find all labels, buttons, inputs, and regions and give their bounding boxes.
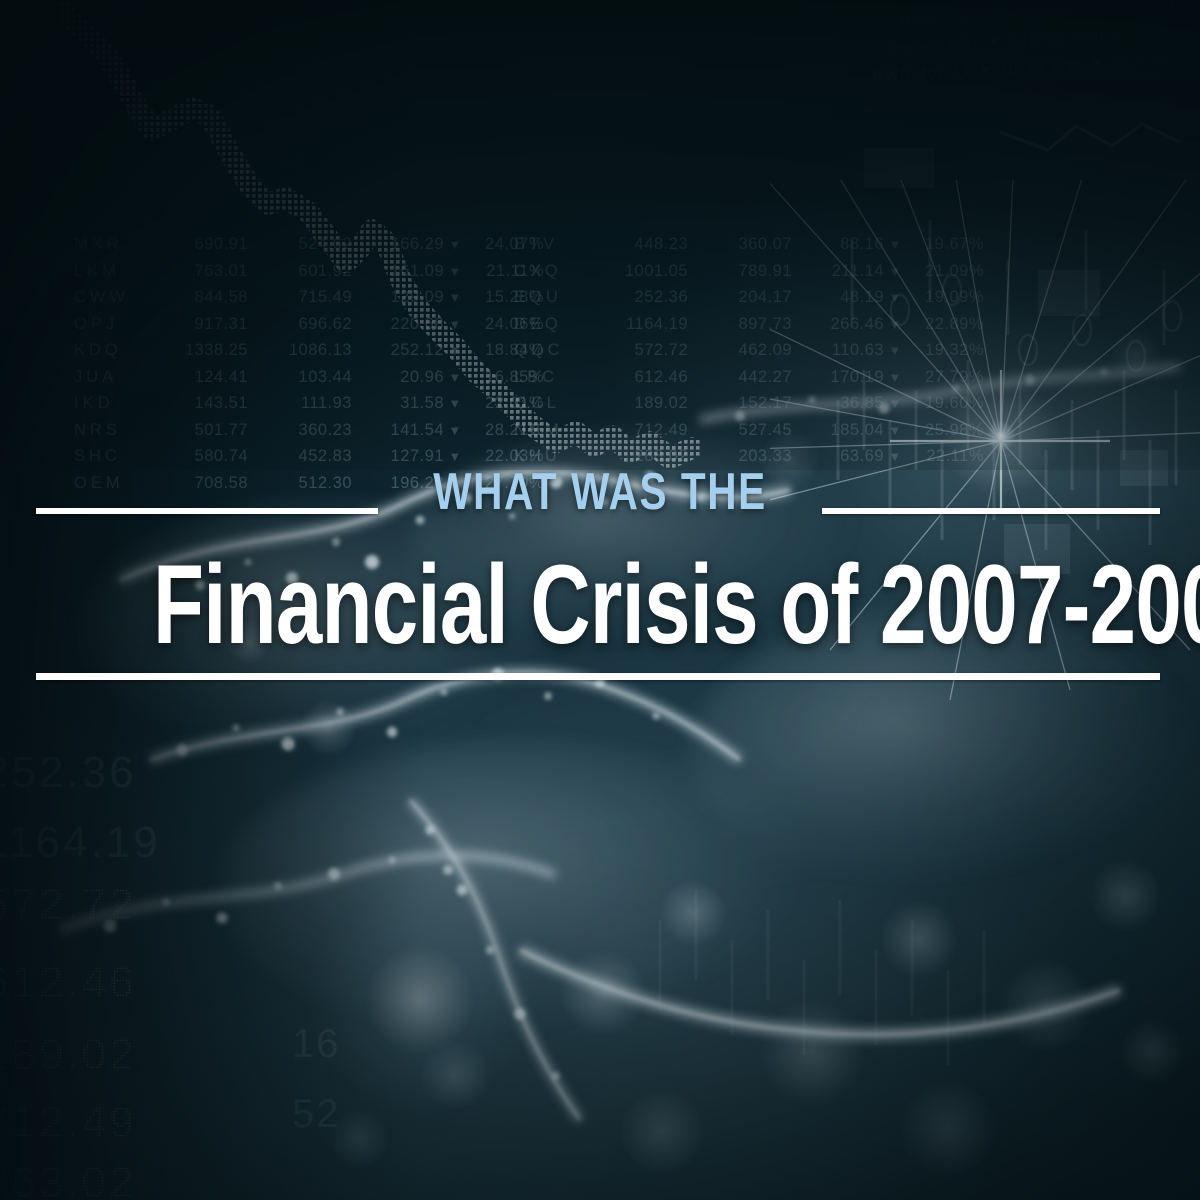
title-block: WHAT WAS THE Financial Crisis of 2007-20… <box>0 0 1200 1200</box>
poster-canvas: MXR690.91524.62166.29▼24.07%LKM763.01601… <box>0 0 1200 1200</box>
headline-rule-bottom <box>36 673 1160 680</box>
kicker-text: WHAT WAS THE <box>132 466 1068 518</box>
headline-text: Financial Crisis of 2007-2008? <box>153 549 1047 661</box>
